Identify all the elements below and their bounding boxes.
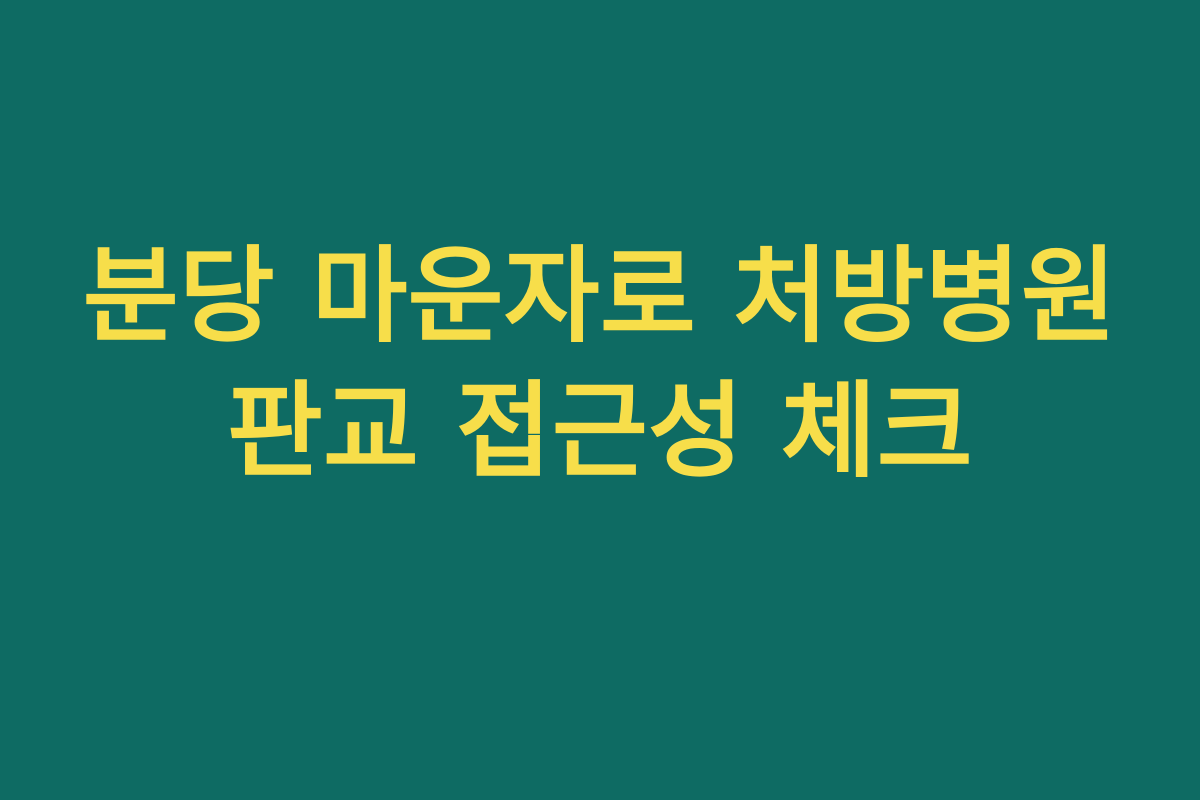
poster-canvas: 분당 마운자로 처방병원 판교 접근성 체크 (0, 0, 1200, 800)
page-title: 분당 마운자로 처방병원 판교 접근성 체크 (83, 229, 1117, 499)
headline-line-2: 판교 접근성 체크 (83, 364, 1117, 499)
headline-line-1: 분당 마운자로 처방병원 (83, 229, 1117, 364)
